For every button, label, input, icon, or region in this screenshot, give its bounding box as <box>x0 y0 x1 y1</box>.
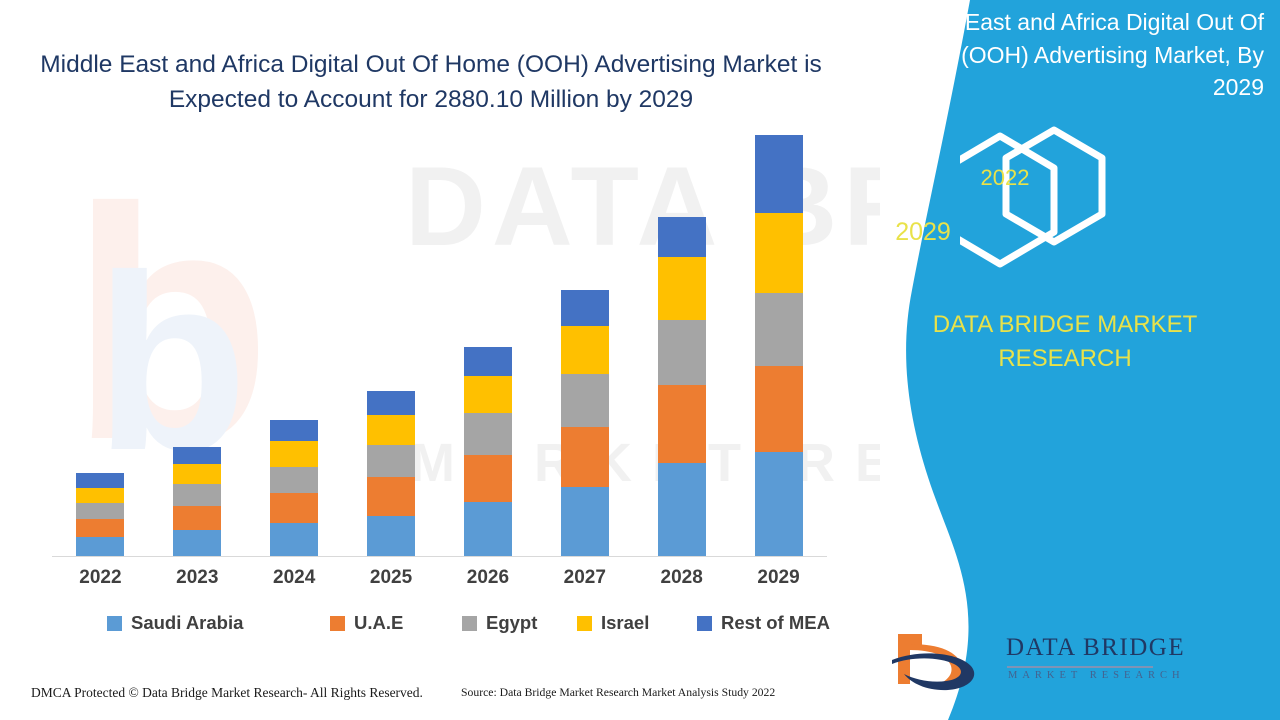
bar-segment-saudi-arabia <box>464 502 512 557</box>
bar-segment-egypt <box>270 467 318 494</box>
bar-segment-israel <box>270 441 318 466</box>
legend-label: Egypt <box>486 612 537 634</box>
legend-label: U.A.E <box>354 612 403 634</box>
chart-plot-area <box>52 160 827 557</box>
panel-brand-name: DATA BRIDGE MARKET RESEARCH <box>870 308 1260 376</box>
bar-segment-rest-of-mea <box>464 347 512 376</box>
legend-swatch-icon <box>462 616 477 631</box>
bar-segment-israel <box>76 488 124 503</box>
panel-title: Middle East and Africa Digital Out Of Ho… <box>858 6 1264 104</box>
x-axis-tick-2024: 2024 <box>246 567 342 589</box>
logo-subtitle: MARKET RESEARCH <box>1008 670 1185 681</box>
stacked-bar <box>367 391 415 557</box>
bar-segment-egypt <box>173 484 221 506</box>
bar-column-2026 <box>440 347 536 557</box>
stacked-bar <box>755 135 803 557</box>
bar-segment-saudi-arabia <box>561 487 609 557</box>
bar-segment-israel <box>367 415 415 445</box>
bar-segment-saudi-arabia <box>755 452 803 557</box>
bar-segment-rest-of-mea <box>561 290 609 326</box>
footer-source-note: Source: Data Bridge Market Research Mark… <box>461 686 775 699</box>
bar-segment-saudi-arabia <box>658 463 706 557</box>
logo-divider <box>1007 666 1153 668</box>
bar-segment-u-a-e <box>76 519 124 537</box>
bar-segment-egypt <box>561 374 609 427</box>
data-bridge-logo: DATA BRIDGE MARKET RESEARCH <box>888 628 1148 694</box>
bar-segment-egypt <box>755 293 803 366</box>
stacked-bar <box>270 420 318 557</box>
bar-column-2023 <box>149 447 245 557</box>
hexagon-badges <box>960 120 1260 300</box>
bar-segment-saudi-arabia <box>270 523 318 557</box>
chart-title: Middle East and Africa Digital Out Of Ho… <box>36 48 826 118</box>
hexagon-shapes <box>960 120 1260 300</box>
bar-segment-israel <box>173 464 221 484</box>
x-axis-tick-2029: 2029 <box>731 567 827 589</box>
x-axis-tick-2023: 2023 <box>149 567 245 589</box>
brand-side-panel: Middle East and Africa Digital Out Of Ho… <box>840 0 1280 720</box>
legend-item-israel[interactable]: Israel <box>577 612 649 634</box>
footer-dmca-notice: DMCA Protected © Data Bridge Market Rese… <box>31 685 423 701</box>
legend-swatch-icon <box>577 616 592 631</box>
bar-segment-u-a-e <box>173 506 221 530</box>
x-axis-tick-2028: 2028 <box>634 567 730 589</box>
bar-segment-egypt <box>76 503 124 519</box>
x-axis-tick-2027: 2027 <box>537 567 633 589</box>
legend-item-rest-of-mea[interactable]: Rest of MEA <box>697 612 830 634</box>
bar-segment-u-a-e <box>270 493 318 523</box>
bar-column-2022 <box>52 473 148 557</box>
bar-segment-israel <box>561 326 609 374</box>
bar-segment-u-a-e <box>561 427 609 487</box>
stacked-bar <box>173 447 221 557</box>
legend-swatch-icon <box>330 616 345 631</box>
bar-segment-saudi-arabia <box>76 537 124 557</box>
legend-label: Rest of MEA <box>721 612 830 634</box>
bar-column-2028 <box>634 217 730 557</box>
bar-column-2025 <box>343 391 439 557</box>
logo-name: DATA BRIDGE <box>1006 634 1185 662</box>
bar-segment-israel <box>755 213 803 293</box>
x-axis-tick-2026: 2026 <box>440 567 536 589</box>
legend-item-u-a-e[interactable]: U.A.E <box>330 612 403 634</box>
hexagon-label-2022: 2022 <box>955 165 1055 191</box>
bar-segment-u-a-e <box>658 385 706 462</box>
bar-segment-israel <box>658 257 706 320</box>
legend-swatch-icon <box>107 616 122 631</box>
bar-segment-saudi-arabia <box>173 530 221 557</box>
legend-label: Saudi Arabia <box>131 612 243 634</box>
bar-segment-u-a-e <box>367 477 415 515</box>
stacked-bar <box>561 290 609 557</box>
x-axis-tick-2025: 2025 <box>343 567 439 589</box>
legend-swatch-icon <box>697 616 712 631</box>
hexagon-label-2029: 2029 <box>868 218 978 247</box>
bar-column-2029 <box>731 135 827 557</box>
logo-mark-icon <box>888 630 998 692</box>
chart-legend: Saudi ArabiaU.A.EEgyptIsraelRest of MEA <box>52 612 842 642</box>
stacked-bar <box>464 347 512 557</box>
stacked-bar <box>76 473 124 557</box>
footer: DMCA Protected © Data Bridge Market Rese… <box>0 678 880 720</box>
bar-segment-u-a-e <box>464 455 512 502</box>
bar-segment-israel <box>464 376 512 413</box>
bar-segment-egypt <box>464 413 512 455</box>
x-axis-labels: 20222023202420252026202720282029 <box>52 567 827 597</box>
bar-segment-rest-of-mea <box>270 420 318 441</box>
bar-segment-rest-of-mea <box>173 447 221 464</box>
bar-segment-rest-of-mea <box>658 217 706 257</box>
bar-segment-u-a-e <box>755 366 803 452</box>
bar-segment-rest-of-mea <box>76 473 124 488</box>
chart-panel: Middle East and Africa Digital Out Of Ho… <box>0 0 900 720</box>
bar-column-2027 <box>537 290 633 557</box>
legend-label: Israel <box>601 612 649 634</box>
legend-item-saudi-arabia[interactable]: Saudi Arabia <box>107 612 243 634</box>
bar-segment-egypt <box>367 445 415 478</box>
bar-column-2024 <box>246 420 342 557</box>
bar-segment-egypt <box>658 320 706 386</box>
x-axis-line <box>52 556 827 557</box>
bar-segment-rest-of-mea <box>755 135 803 212</box>
bar-segment-rest-of-mea <box>367 391 415 415</box>
stacked-bar <box>658 217 706 557</box>
legend-item-egypt[interactable]: Egypt <box>462 612 537 634</box>
bar-segment-saudi-arabia <box>367 516 415 557</box>
x-axis-tick-2022: 2022 <box>52 567 148 589</box>
